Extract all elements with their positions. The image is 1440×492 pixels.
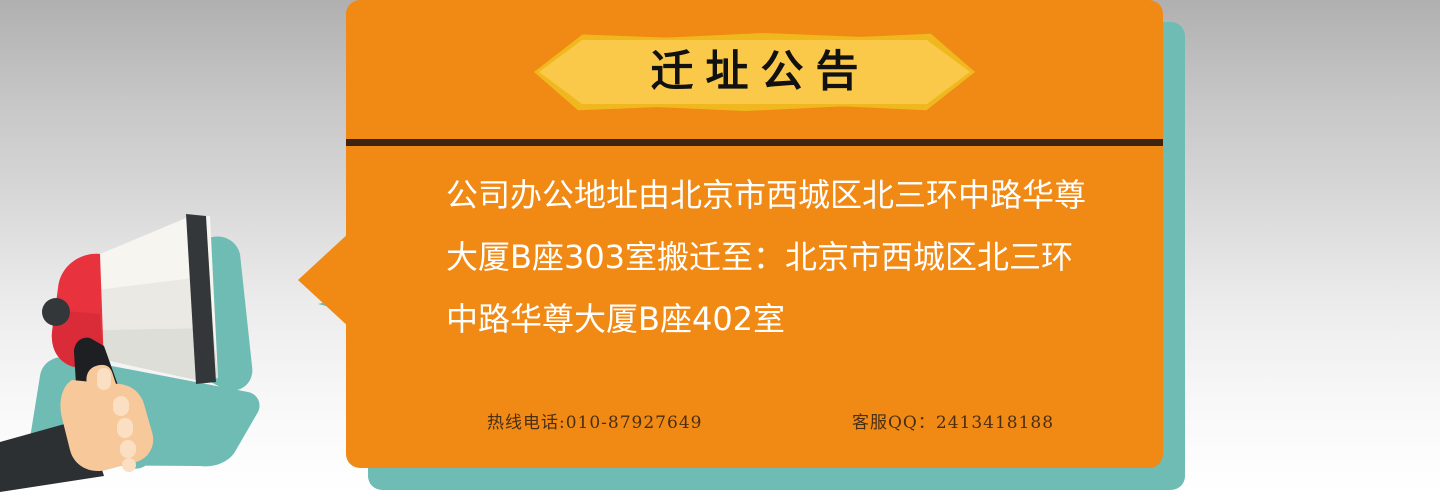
title-ribbon: 迁址公告: [534, 33, 975, 111]
divider: [346, 139, 1163, 146]
announcement-body: 公司办公地址由北京市西城区北三环中路华尊大厦B座303室搬迁至：北京市西城区北三…: [446, 164, 1096, 350]
announcement-card: 迁址公告 公司办公地址由北京市西城区北三环中路华尊大厦B座303室搬迁至：北京市…: [346, 0, 1163, 468]
contact-footer: 热线电话:010-87927649 客服QQ：2413418188: [346, 408, 1163, 442]
announcement-banner: 迁址公告 公司办公地址由北京市西城区北三环中路华尊大厦B座303室搬迁至：北京市…: [0, 0, 1440, 492]
qq-text: 客服QQ：2413418188: [852, 408, 1054, 433]
megaphone-illustration: [0, 180, 320, 492]
speech-tail: [298, 232, 350, 328]
hotline-text: 热线电话:010-87927649: [487, 408, 702, 433]
page-title: 迁址公告: [534, 33, 975, 111]
